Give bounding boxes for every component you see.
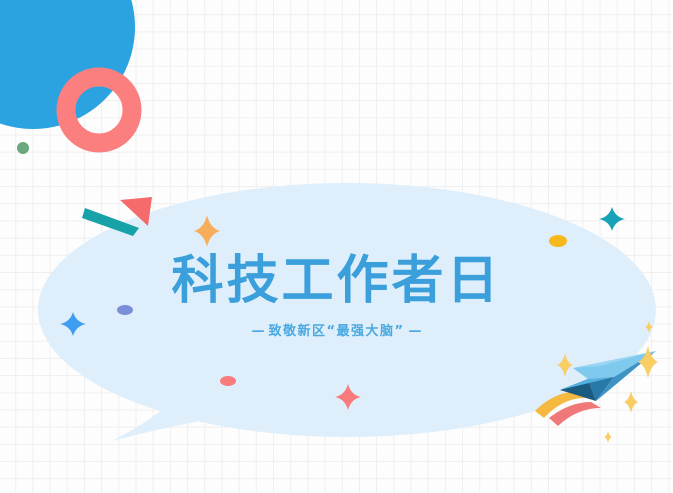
periwinkle-dot: [117, 305, 133, 315]
yellow-diamond-right-large: [638, 346, 658, 378]
teal-diamond-upper-right: [599, 207, 625, 231]
yellow-diamond-right-lower: [624, 391, 638, 413]
decorations-layer: [0, 0, 673, 493]
green-dot: [17, 142, 29, 154]
gold-dot: [549, 235, 567, 247]
yellow-diamond-bottom-small: [604, 431, 612, 443]
poster-canvas: 科技工作者日 —致敬新区“最强大脑”—: [0, 0, 673, 493]
coral-dot: [220, 376, 236, 386]
